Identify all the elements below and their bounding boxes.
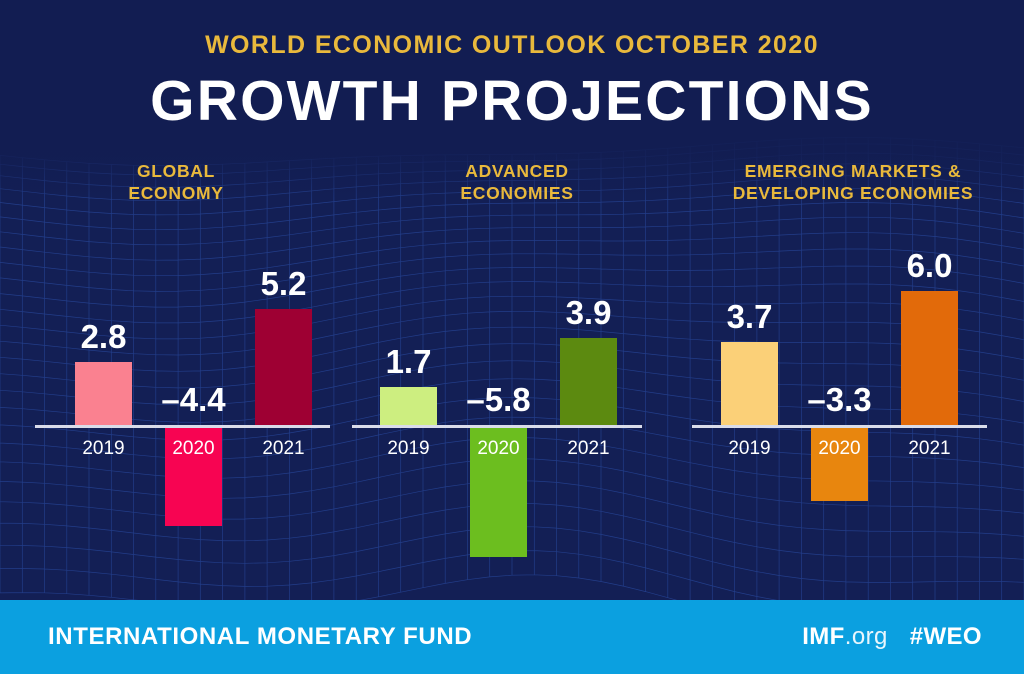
bar-value-label: –3.3 [789, 381, 890, 419]
bar-2021 [560, 338, 617, 425]
chart-plot-area: 3.72019–3.320206.02021 [682, 160, 1024, 580]
footer-website-link[interactable]: IMF.org [802, 623, 888, 651]
footer-organization-name: INTERNATIONAL MONETARY FUND [48, 623, 472, 651]
bar-category-label: 2019 [61, 438, 146, 460]
bar-category-label: 2019 [707, 438, 792, 460]
bar-value-label: 2.8 [53, 318, 154, 356]
chart-plot-area: 1.72019–5.820203.92021 [352, 160, 682, 580]
chart-group-1: GLOBALECONOMY2.82019–4.420205.22021 [0, 160, 352, 580]
chart-group-3: EMERGING MARKETS &DEVELOPING ECONOMIES3.… [682, 160, 1024, 580]
bar-category-label: 2020 [797, 438, 882, 460]
chart-zero-baseline [692, 425, 987, 428]
bar-category-label: 2020 [456, 438, 541, 460]
footer-hashtag[interactable]: #WEO [910, 623, 982, 651]
bar-value-label: 6.0 [879, 247, 980, 285]
chart-zero-baseline [35, 425, 330, 428]
bar-value-label: 1.7 [358, 343, 459, 381]
footer-links: IMF.org #WEO [802, 623, 982, 651]
page-title: GROWTH PROJECTIONS [0, 72, 1024, 130]
bar-2021 [901, 291, 958, 425]
bar-2021 [255, 309, 312, 425]
poster-header: WORLD ECONOMIC OUTLOOK OCTOBER 2020 GROW… [0, 0, 1024, 130]
chart-group-2: ADVANCEDECONOMIES1.72019–5.820203.92021 [352, 160, 682, 580]
bar-value-label: –4.4 [143, 381, 244, 419]
bar-category-label: 2020 [151, 438, 236, 460]
poster-footer: INTERNATIONAL MONETARY FUND IMF.org #WEO [0, 600, 1024, 674]
infographic-poster: WORLD ECONOMIC OUTLOOK OCTOBER 2020 GROW… [0, 0, 1024, 674]
footer-site-name: IMF [802, 623, 845, 650]
bar-category-label: 2021 [546, 438, 631, 460]
bar-2019 [721, 342, 778, 425]
bar-2019 [75, 362, 132, 425]
bar-category-label: 2019 [366, 438, 451, 460]
footer-site-tld: .org [845, 623, 888, 650]
bar-category-label: 2021 [241, 438, 326, 460]
bar-value-label: 5.2 [233, 265, 334, 303]
chart-groups: GLOBALECONOMY2.82019–4.420205.22021ADVAN… [0, 160, 1024, 580]
bar-value-label: 3.9 [538, 294, 639, 332]
bar-category-label: 2021 [887, 438, 972, 460]
chart-zero-baseline [352, 425, 642, 428]
chart-plot-area: 2.82019–4.420205.22021 [0, 160, 352, 580]
bar-value-label: –5.8 [448, 381, 549, 419]
bar-2019 [380, 387, 437, 425]
report-kicker: WORLD ECONOMIC OUTLOOK OCTOBER 2020 [0, 31, 1024, 60]
bar-value-label: 3.7 [699, 298, 800, 336]
